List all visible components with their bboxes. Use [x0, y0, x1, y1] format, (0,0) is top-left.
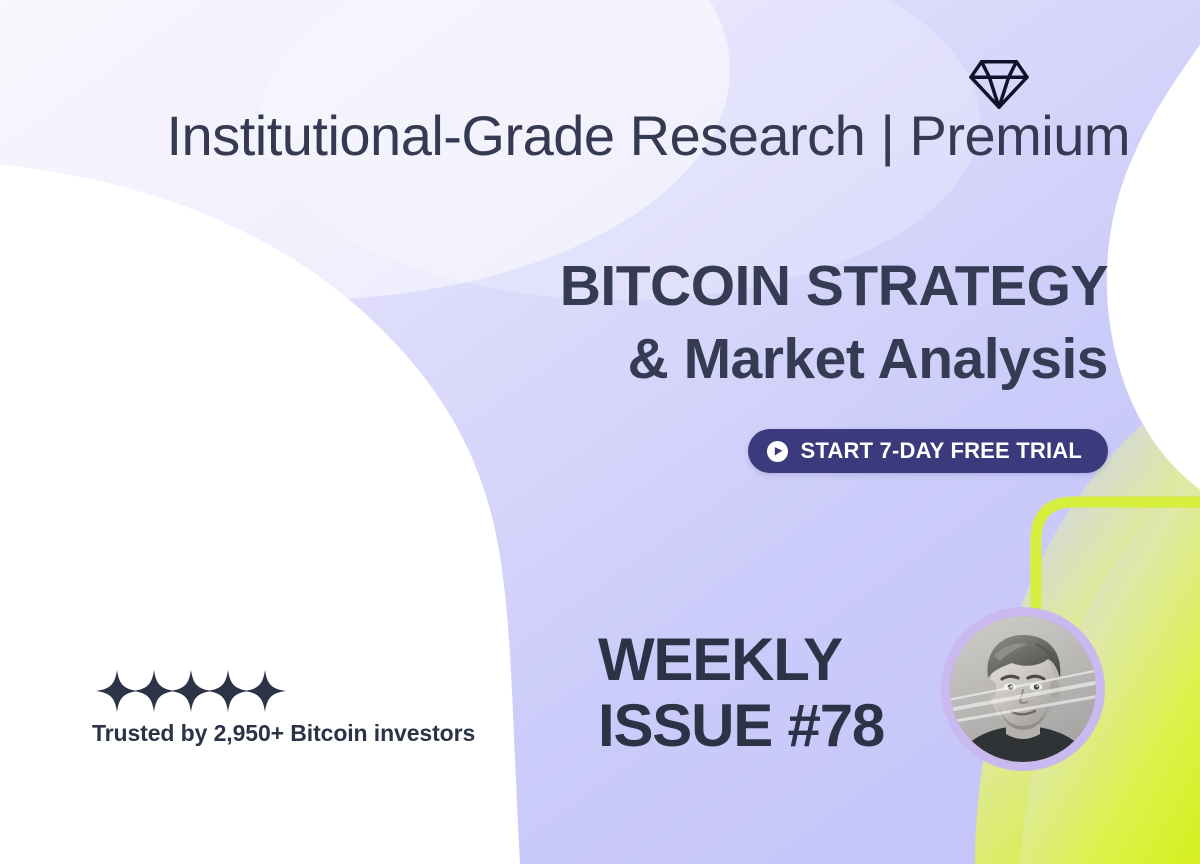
play-circle-icon — [766, 440, 789, 463]
headline-line-1: BITCOIN STRATEGY — [560, 258, 1108, 315]
avatar-image — [950, 616, 1096, 762]
avatar — [941, 607, 1105, 771]
trust-block: Trusted by 2,950+ Bitcoin investors — [92, 668, 475, 747]
promo-poster: Institutional-Grade Research | Premium B… — [0, 0, 1200, 864]
trust-text: Trusted by 2,950+ Bitcoin investors — [92, 720, 475, 747]
start-free-trial-button[interactable]: START 7-DAY FREE TRIAL — [748, 429, 1108, 473]
rating-stars — [94, 668, 475, 714]
headline-line-2: & Market Analysis — [560, 331, 1108, 388]
issue-block: WEEKLY ISSUE #78 — [598, 631, 884, 755]
issue-line-number: ISSUE #78 — [598, 697, 884, 755]
diamond-icon — [968, 54, 1030, 112]
cta-label: START 7-DAY FREE TRIAL — [801, 438, 1082, 464]
headline: BITCOIN STRATEGY & Market Analysis — [560, 258, 1108, 388]
page-title: Institutional-Grade Research | Premium — [0, 104, 1130, 168]
four-point-star-icon — [242, 668, 288, 714]
issue-line-weekly: WEEKLY — [598, 631, 884, 689]
